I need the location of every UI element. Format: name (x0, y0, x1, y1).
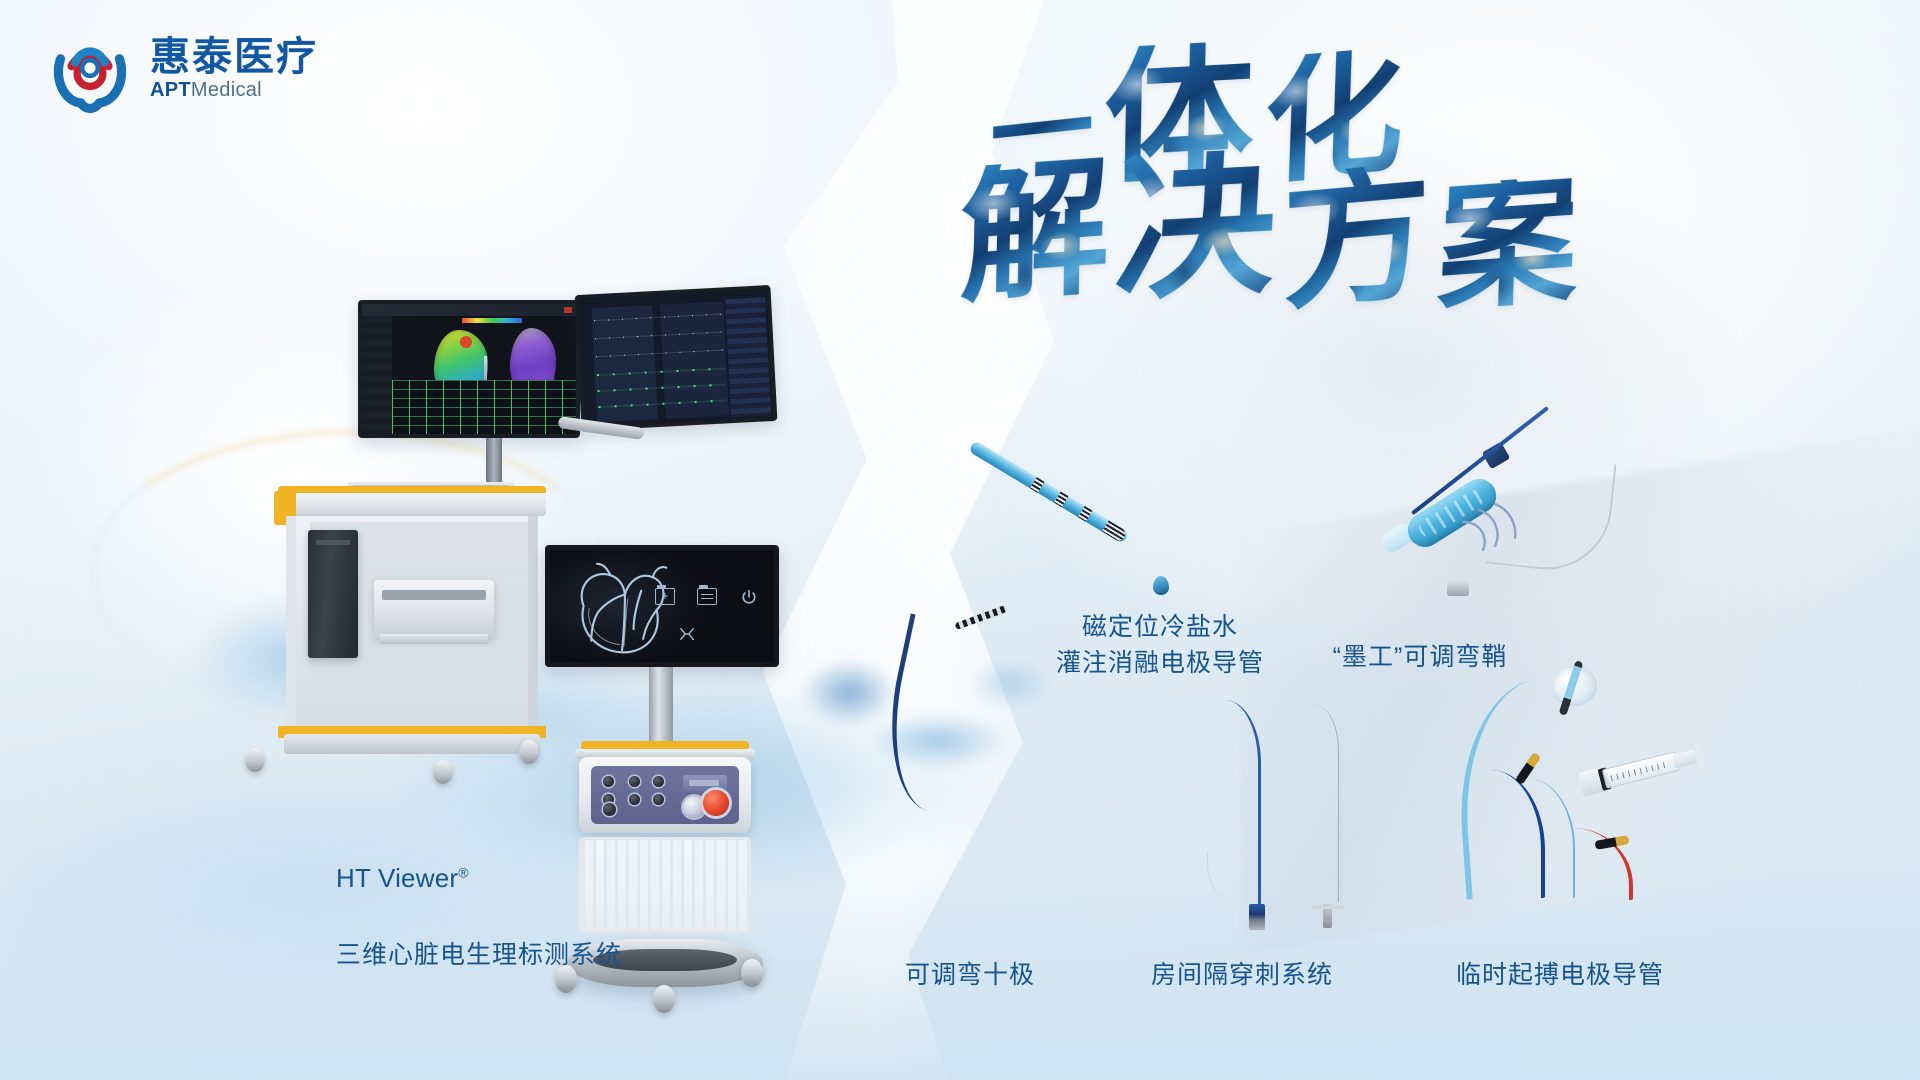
cart-caster (242, 740, 268, 774)
needle-hub (1249, 904, 1265, 930)
heart-anatomy-graphic (560, 558, 686, 658)
registration-glyph (677, 626, 697, 647)
connector-port[interactable] (653, 776, 664, 787)
ground-port[interactable] (603, 803, 616, 816)
screen-action-icons (652, 588, 762, 605)
case-library-icon[interactable] (694, 588, 720, 605)
connector-port[interactable] (629, 776, 640, 787)
mapping-ecg-traces (392, 380, 576, 434)
mapping-toolbar (362, 304, 576, 316)
cart-worktop (278, 486, 546, 516)
poster-stage: 惠泰医疗 APTMedical 一 体 化 解 决 方 案 (0, 0, 1920, 1080)
registration-icon[interactable] (674, 626, 700, 647)
transseptal-guidewire (1313, 704, 1339, 902)
headline-line-2: 解 决 方 案 (960, 162, 1578, 309)
hemostasis-valve (1447, 580, 1469, 596)
saline-droplet (1153, 576, 1169, 595)
heart-display-monitor (545, 545, 779, 667)
brand-name-en-secondary: Medical (191, 79, 262, 101)
label-transseptal-system: 房间隔穿刺系统 (1132, 958, 1352, 994)
heart-display-screen (550, 550, 774, 662)
power-icon[interactable] (736, 588, 762, 605)
mapping-side-panel (362, 316, 392, 434)
brand-logo: 惠泰医疗 APTMedical (44, 22, 318, 114)
case-library-glyph (697, 588, 717, 605)
transseptal-system-image (1195, 690, 1365, 930)
ablation-catheter-shaft (968, 440, 1129, 544)
connector-port[interactable] (603, 776, 614, 787)
brand-logo-text: 惠泰医疗 APTMedical (150, 36, 318, 100)
cart-base (284, 734, 540, 754)
ecg-monitor (575, 285, 778, 431)
generator-display-badge (683, 775, 727, 791)
label-steerable-sheath: “墨工”可调弯鞘 (1300, 640, 1540, 676)
printer-paper-slot (382, 590, 486, 600)
power-glyph (739, 588, 759, 605)
generator-front-panel (591, 766, 739, 824)
inflation-syringe (1577, 741, 1704, 798)
ecg-measurement-rail (725, 297, 771, 417)
connector-port[interactable] (653, 794, 664, 805)
display-pole (649, 667, 673, 743)
cart-caster (430, 752, 456, 786)
temporary-pacing-catheter-image (1455, 660, 1755, 930)
cart-body (278, 486, 546, 760)
cart-caster (516, 732, 542, 766)
steerable-sheath-image (1395, 440, 1685, 630)
printer-output-tray (380, 634, 488, 644)
label-decapolar-catheter: 可调弯十极 (880, 958, 1060, 994)
ecg-monitor-screen (579, 289, 773, 427)
printer (374, 580, 494, 638)
apt-medical-rings-icon (44, 22, 136, 114)
emergency-stop-button[interactable] (703, 790, 729, 816)
pc-tower (308, 530, 358, 658)
brand-name-en-primary: APT (150, 79, 191, 101)
irrigated-ablation-catheter-image (975, 440, 1175, 590)
connector-port[interactable] (629, 794, 640, 805)
headline-char-fang: 方 (1281, 161, 1433, 312)
guidewire-hub (1323, 904, 1332, 928)
label-ht-viewer: HT Viewer® 三维心脏电生理标测系统 (336, 824, 622, 1009)
headline-char-jue: 决 (1112, 148, 1280, 304)
syringe-barrel (1602, 751, 1681, 789)
needle-sidearm (1207, 852, 1251, 908)
curve-diagram (1453, 492, 1539, 564)
decapolar-catheter-image (880, 620, 1000, 870)
label-ht-viewer-cn: 三维心脏电生理标测系统 (336, 938, 622, 974)
trademark-symbol: ® (458, 864, 469, 880)
headline: 一 体 化 解 决 方 案 (960, 40, 1620, 340)
electrode-band (1030, 477, 1044, 493)
new-case-glyph (655, 588, 675, 605)
label-irrigated-ablation-catheter: 磁定位冷盐水 灌注消融电极导管 (1030, 610, 1290, 681)
label-temporary-pacing-catheter: 临时起搏电极导管 (1440, 958, 1680, 994)
electrode-band (1054, 492, 1068, 508)
new-case-icon[interactable] (652, 588, 678, 605)
label-ht-viewer-en: HT Viewer® (336, 860, 622, 897)
pedestal-caster (737, 949, 767, 989)
voltage-color-scale (462, 318, 522, 323)
brand-name-en: APTMedical (150, 80, 318, 100)
generator-knob[interactable] (683, 796, 705, 818)
cart-shelf (286, 516, 538, 732)
electrode-band (1078, 506, 1092, 522)
headline-char-an: 案 (1436, 175, 1580, 314)
rf-generator (579, 757, 751, 833)
label-ht-viewer-name: HT Viewer (336, 863, 458, 893)
mapping-monitor-screen (362, 304, 576, 434)
ablation-tip-electrode (1102, 520, 1128, 542)
monitor-stand (486, 438, 502, 486)
mapping-monitor (358, 300, 580, 438)
decapolar-shaft (871, 613, 993, 816)
pedestal-caster (649, 975, 679, 1015)
brand-name-cn: 惠泰医疗 (150, 36, 318, 78)
headline-char-jie: 解 (959, 157, 1111, 306)
